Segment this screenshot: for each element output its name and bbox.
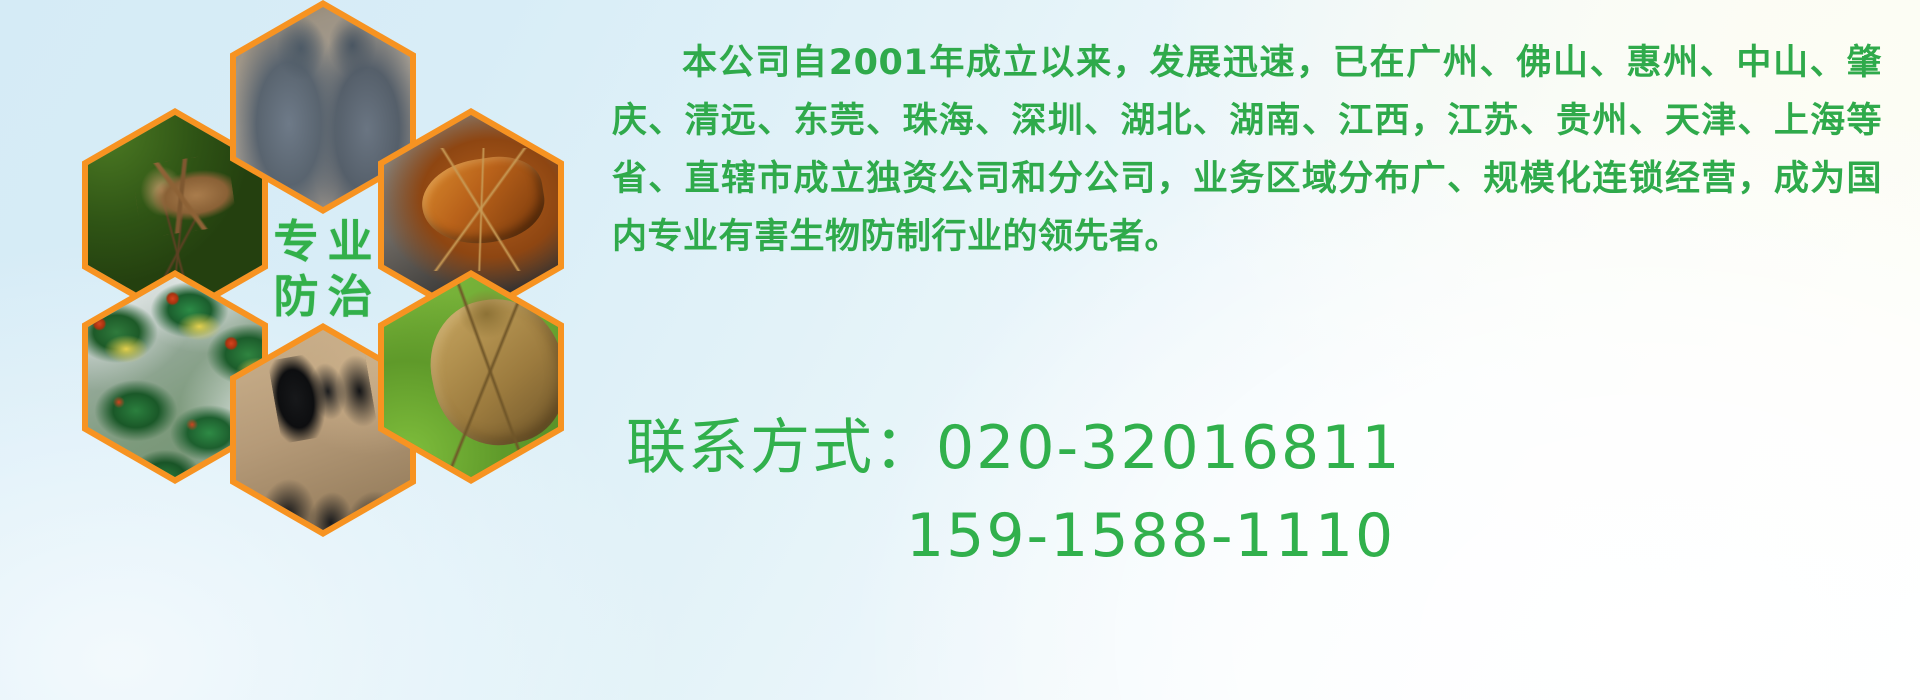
slogan-line-2: 防治 (264, 274, 381, 319)
company-intro-paragraph: 本公司自2001年成立以来，发展迅速，已在广州、佛山、惠州、中山、肇庆、清远、东… (612, 34, 1882, 266)
promo-banner: 专业 防治 本公司自2001年成立以来，发展迅速，已在广州、佛山、惠州、中山、肇… (0, 0, 1920, 700)
contact-landline-line[interactable]: 联系方式：020-32016811 (626, 404, 1886, 492)
slogan-line-1: 专业 (264, 219, 381, 264)
honeycomb-collage: 专业 防治 (82, 0, 582, 550)
intro-text-block: 本公司自2001年成立以来，发展迅速，已在广州、佛山、惠州、中山、肇庆、清远、东… (612, 34, 1882, 266)
contact-block: 联系方式：020-32016811 159-1588-1110 (626, 404, 1886, 580)
contact-mobile-line[interactable]: 159-1588-1110 (626, 492, 1886, 580)
